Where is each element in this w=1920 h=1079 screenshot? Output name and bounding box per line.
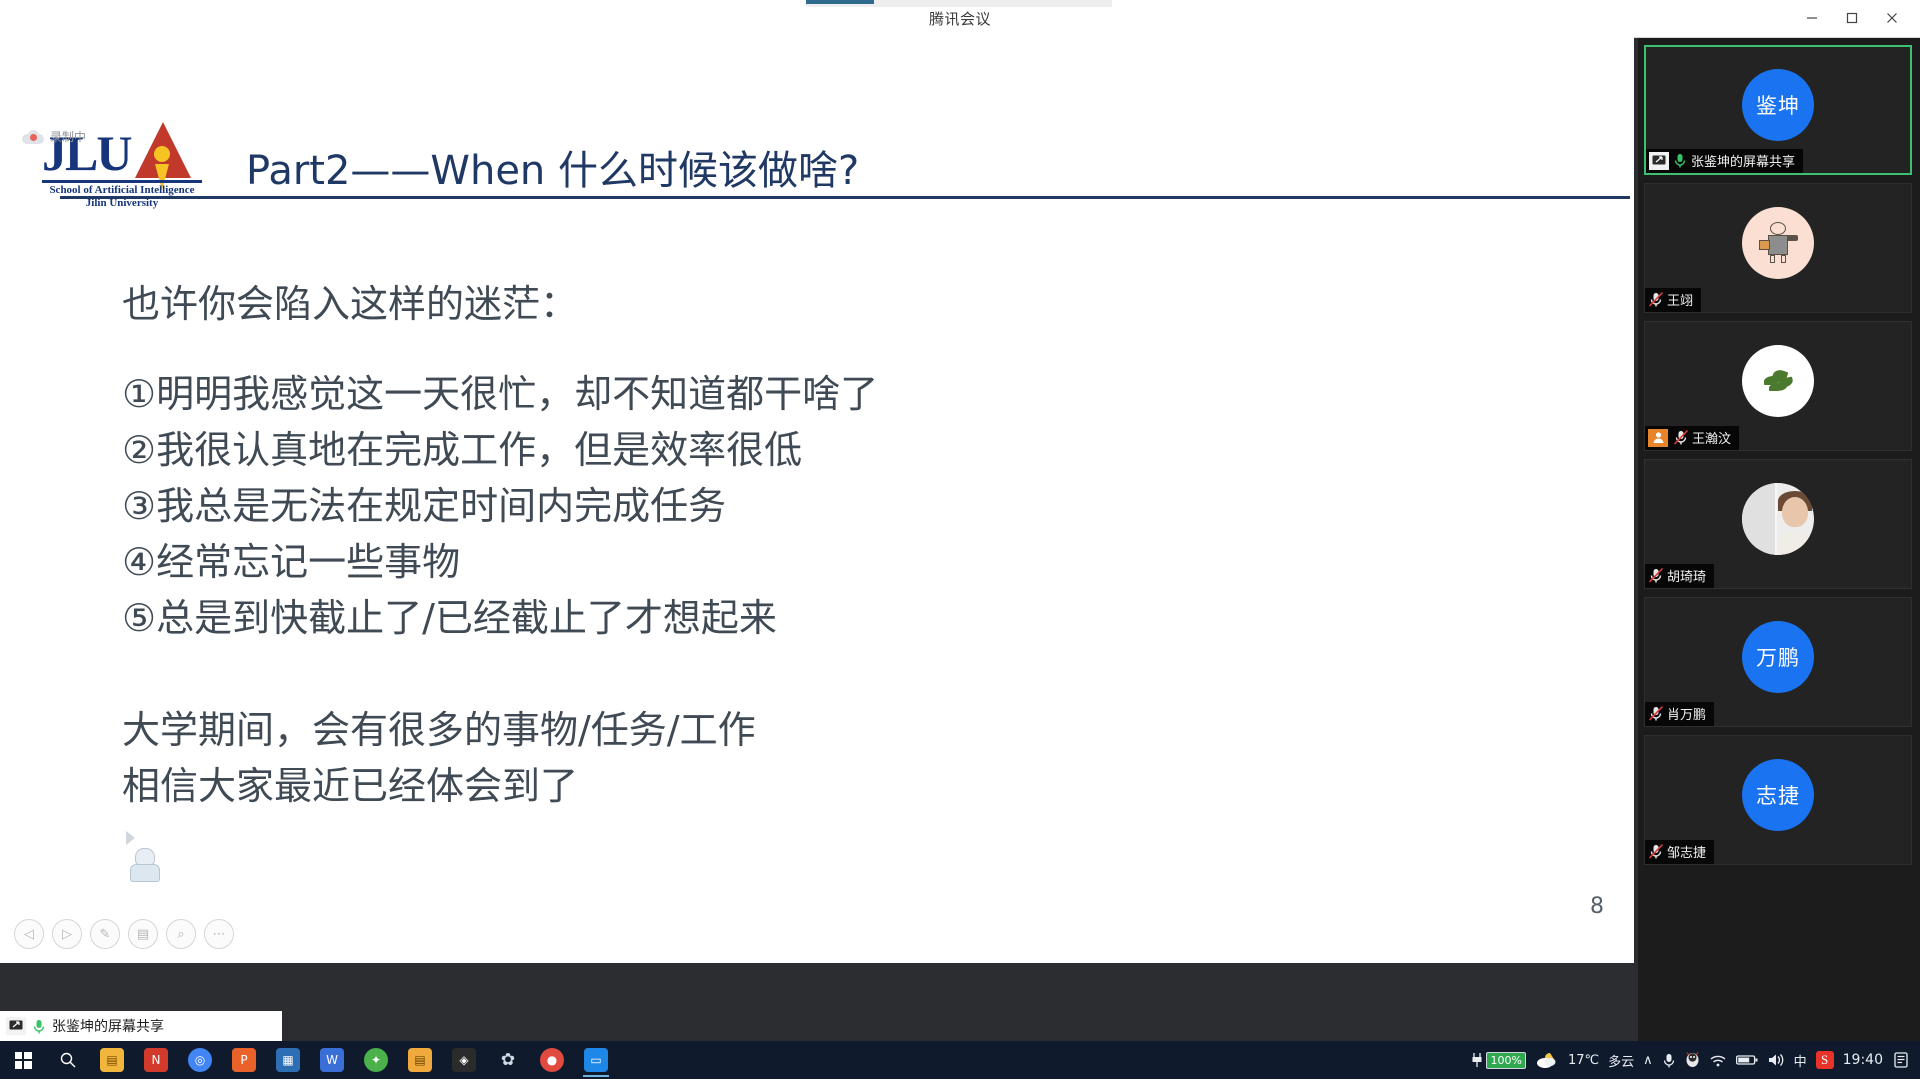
- participant-namebar: 张鉴坤的屏幕共享: [1646, 149, 1803, 173]
- mouse-cursor: [126, 831, 135, 845]
- slide-list-item: ①明明我感觉这一天很忙，却不知道都干啥了: [122, 366, 878, 422]
- background-tab-strip: [806, 0, 1112, 7]
- app-netease-button[interactable]: N: [134, 1041, 178, 1079]
- folder-icon: ▤: [100, 1048, 124, 1072]
- screen-share-icon: [1649, 152, 1669, 170]
- avatar: 万鹏: [1742, 621, 1814, 693]
- participant-rail[interactable]: 鉴坤 张鉴坤的屏幕共享: [1638, 38, 1920, 1041]
- system-tray[interactable]: 100% 17℃ 多云 ∧: [1471, 1051, 1920, 1070]
- window-controls: [1792, 6, 1912, 30]
- slide-closing-line: 相信大家最近已经体会到了: [122, 758, 878, 814]
- microphone-on-icon: [31, 1018, 47, 1035]
- recording-indicator: 录制中: [22, 128, 86, 145]
- slide-body: 也许你会陷入这样的迷茫： ①明明我感觉这一天很忙，却不知道都干啥了 ②我很认真地…: [122, 276, 878, 814]
- window-title: 腾讯会议: [0, 8, 1920, 29]
- slide-toolbar: ◁ ▷ ✎ ▤ ⌕ ⋯: [14, 919, 234, 949]
- wifi-icon[interactable]: [1709, 1052, 1727, 1068]
- shared-screen-area[interactable]: 录制中 JLU School of Artificial Intelligenc…: [0, 36, 1634, 963]
- slide-title: Part2——When 什么时候该做啥?: [246, 138, 859, 196]
- share-status-label: 张鉴坤的屏幕共享: [52, 1016, 164, 1036]
- media-icon: ▦: [276, 1048, 300, 1072]
- browser-icon: ●: [540, 1048, 564, 1072]
- slide-list-item: ②我很认真地在完成工作，但是效率很低: [122, 422, 878, 478]
- participant-name: 邹志捷: [1667, 842, 1706, 861]
- app-chrome-button[interactable]: ◎: [178, 1041, 222, 1079]
- photo-avatar-icon: [1742, 483, 1814, 555]
- slide-title-rule: [60, 196, 1630, 199]
- desktop-root: 腾讯会议 录制中 JLU: [0, 0, 1920, 1079]
- logo-underline: [42, 180, 202, 183]
- battery-status[interactable]: 100%: [1471, 1052, 1525, 1069]
- participant-namebar: 胡琦琦: [1645, 564, 1714, 588]
- microphone-muted-icon: [1648, 567, 1664, 584]
- prev-slide-button[interactable]: ◁: [14, 919, 44, 949]
- avatar: 鉴坤: [1742, 69, 1814, 141]
- app-wps-writer-button[interactable]: W: [310, 1041, 354, 1079]
- volume-icon[interactable]: [1767, 1052, 1785, 1068]
- microphone-muted-icon: [1673, 429, 1689, 446]
- windows-taskbar[interactable]: ▤ N ◎ P ▦ W ✦ ▤ ◈ ✿ ● ▭: [0, 1041, 1920, 1079]
- photos-icon: ◈: [452, 1048, 476, 1072]
- slide-intro-line: 也许你会陷入这样的迷茫：: [122, 276, 878, 332]
- battery-tray-icon[interactable]: [1736, 1053, 1758, 1067]
- microphone-muted-icon: [1648, 705, 1664, 722]
- app-wps-presentation-button[interactable]: P: [222, 1041, 266, 1079]
- pen-tool-button[interactable]: ✎: [90, 919, 120, 949]
- battery-percent: 100%: [1486, 1052, 1525, 1069]
- minimize-button[interactable]: [1792, 6, 1832, 30]
- wechat-icon: ✦: [364, 1048, 388, 1072]
- logo-sun-icon: [154, 146, 170, 162]
- recording-label: 录制中: [50, 128, 86, 145]
- tray-expand-chevron-icon[interactable]: ∧: [1643, 1053, 1653, 1068]
- weather-description: 多云: [1608, 1051, 1634, 1070]
- sogou-ime-icon[interactable]: S: [1816, 1051, 1834, 1069]
- tencent-meeting-icon: ▭: [584, 1048, 608, 1072]
- app-tencent-meeting-button[interactable]: ▭: [574, 1041, 618, 1079]
- slide-list-item: ⑤总是到快截止了/已经截止了才想起来: [122, 590, 878, 646]
- slide-overview-button[interactable]: ▤: [128, 919, 158, 949]
- netease-icon: N: [144, 1048, 168, 1072]
- qq-tray-icon[interactable]: [1685, 1052, 1700, 1069]
- window-title-bar: 腾讯会议: [0, 0, 1920, 38]
- folder-yellow-icon: ▤: [408, 1048, 432, 1072]
- ime-language-indicator[interactable]: 中: [1794, 1051, 1807, 1070]
- search-taskbar-button[interactable]: [46, 1041, 90, 1079]
- screen-share-icon: [6, 1017, 26, 1035]
- participant-name: 胡琦琦: [1667, 566, 1706, 585]
- weather-icon: [1535, 1051, 1559, 1069]
- app-folder-button[interactable]: ▤: [398, 1041, 442, 1079]
- logo-school-name: School of Artificial Intelligence: [42, 184, 202, 196]
- zoom-tool-button[interactable]: ⌕: [166, 919, 196, 949]
- presentation-icon: P: [232, 1048, 256, 1072]
- microphone-muted-icon: [1648, 843, 1664, 860]
- close-button[interactable]: [1872, 6, 1912, 30]
- plant-avatar-icon: [1760, 366, 1796, 396]
- writer-icon: W: [320, 1048, 344, 1072]
- more-options-button[interactable]: ⋯: [204, 919, 234, 949]
- power-plug-icon: [1471, 1052, 1483, 1068]
- participant-namebar: 王翊: [1645, 288, 1701, 312]
- avatar: 志捷: [1742, 759, 1814, 831]
- participant-tile[interactable]: 鉴坤 张鉴坤的屏幕共享: [1644, 45, 1912, 175]
- participant-tile[interactable]: 胡琦琦: [1644, 459, 1912, 589]
- cloud-record-icon: [22, 130, 44, 144]
- app-wechat-button[interactable]: ✦: [354, 1041, 398, 1079]
- next-slide-button[interactable]: ▷: [52, 919, 82, 949]
- participant-tile[interactable]: 王翊: [1644, 183, 1912, 313]
- chrome-icon: ◎: [188, 1048, 212, 1072]
- participant-tile[interactable]: 王瀚汶: [1644, 321, 1912, 451]
- participant-name: 王瀚汶: [1692, 428, 1731, 447]
- app-browser-button[interactable]: ●: [530, 1041, 574, 1079]
- file-explorer-button[interactable]: ▤: [90, 1041, 134, 1079]
- avatar: [1742, 207, 1814, 279]
- participant-namebar: 王瀚汶: [1645, 426, 1739, 450]
- microphone-tray-icon[interactable]: [1662, 1052, 1676, 1069]
- presentation-slide: 录制中 JLU School of Artificial Intelligenc…: [0, 36, 1634, 963]
- slide-list-item: ③我总是无法在规定时间内完成任务: [122, 478, 878, 534]
- microphone-muted-icon: [1648, 291, 1664, 308]
- participant-name: 王翊: [1667, 290, 1693, 309]
- screen-share-status-bar: 张鉴坤的屏幕共享: [0, 1011, 282, 1041]
- participant-namebar: 肖万鹏: [1645, 702, 1714, 726]
- slide-clipart-icon: [125, 846, 165, 886]
- maximize-button[interactable]: [1832, 6, 1872, 30]
- weather-temperature: 17℃: [1568, 1053, 1599, 1068]
- notification-center-icon[interactable]: [1892, 1051, 1910, 1069]
- app-settings-button[interactable]: ✿: [486, 1041, 530, 1079]
- doodle-avatar-icon: [1758, 222, 1798, 264]
- app-photos-button[interactable]: ◈: [442, 1041, 486, 1079]
- start-button[interactable]: [0, 1041, 46, 1079]
- microphone-on-icon: [1672, 152, 1688, 169]
- slide-closing-line: 大学期间，会有很多的事物/任务/工作: [122, 702, 878, 758]
- avatar: [1742, 483, 1814, 555]
- participant-name: 肖万鹏: [1667, 704, 1706, 723]
- participant-tile[interactable]: 万鹏 肖万鹏: [1644, 597, 1912, 727]
- host-badge-icon: [1648, 429, 1668, 447]
- background-tab-active-indicator: [806, 0, 874, 4]
- participant-name: 张鉴坤的屏幕共享: [1691, 151, 1795, 170]
- avatar: [1742, 345, 1814, 417]
- slide-page-number: 8: [1590, 894, 1604, 919]
- windows-logo-icon: [15, 1052, 32, 1069]
- slide-list-item: ④经常忘记一些事物: [122, 534, 878, 590]
- search-icon: [59, 1051, 77, 1069]
- gear-icon: ✿: [496, 1048, 520, 1072]
- app-media-button[interactable]: ▦: [266, 1041, 310, 1079]
- taskbar-clock[interactable]: 19:40: [1843, 1052, 1883, 1068]
- participant-tile[interactable]: 志捷 邹志捷: [1644, 735, 1912, 865]
- participant-namebar: 邹志捷: [1645, 840, 1714, 864]
